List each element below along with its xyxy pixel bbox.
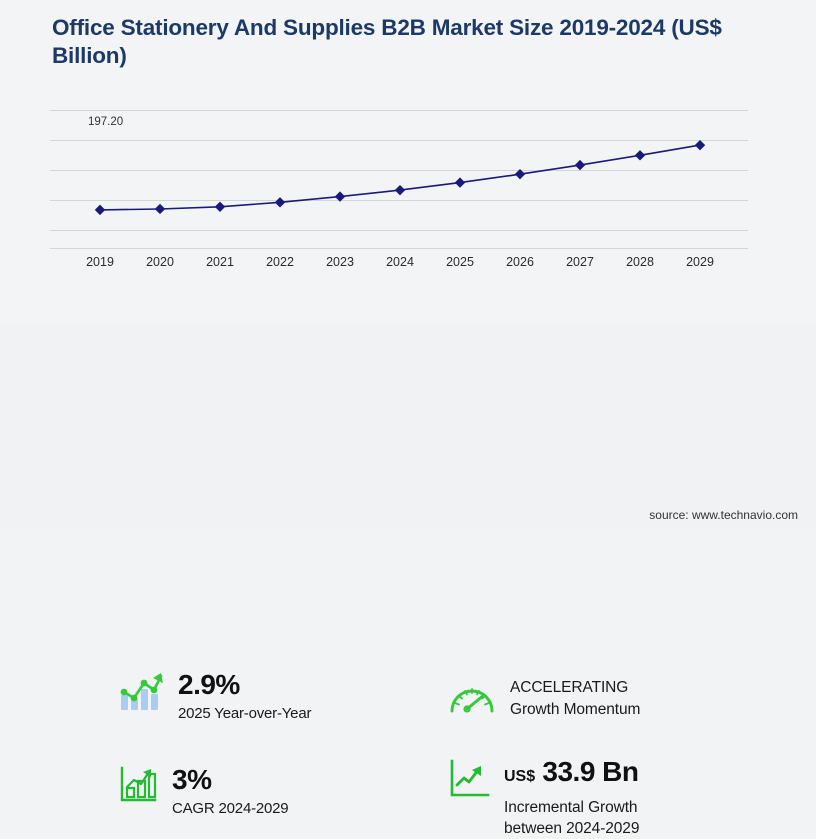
data-point-2027 xyxy=(575,160,585,170)
x-tick-2029: 2029 xyxy=(686,255,714,269)
data-label-2019: 197.20 xyxy=(88,116,123,128)
page-title: Office Stationery And Supplies B2B Marke… xyxy=(52,14,772,70)
cagr-bar-chart-icon xyxy=(118,765,158,810)
x-tick-2025: 2025 xyxy=(446,255,474,269)
series-line xyxy=(100,145,700,210)
speedometer-icon xyxy=(448,677,496,722)
stat-cagr-caption-lead: CAGR xyxy=(172,800,215,817)
source-label: source: www.technavio.com xyxy=(649,508,798,522)
x-tick-2026: 2026 xyxy=(506,255,534,269)
stats-panel: 2.9% 2025 Year-over-Year 3% CAGR 2024-20… xyxy=(0,325,816,528)
stat-incremental-unit: US$ xyxy=(504,768,535,785)
market-size-infographic: Office Stationery And Supplies B2B Marke… xyxy=(0,0,816,528)
x-tick-2027: 2027 xyxy=(566,255,594,269)
series-markers xyxy=(95,140,705,215)
chart-series xyxy=(50,105,748,250)
data-point-2025 xyxy=(455,177,465,187)
data-point-2029 xyxy=(695,140,705,150)
x-tick-2019: 2019 xyxy=(86,255,114,269)
x-tick-2028: 2028 xyxy=(626,255,654,269)
bar-line-growth-icon xyxy=(118,670,164,717)
x-axis: 2019 2020 2021 2022 2023 2024 2025 2026 … xyxy=(50,255,748,277)
stat-incremental-value: US$ 33.9 Bn xyxy=(504,757,798,792)
x-tick-2020: 2020 xyxy=(146,255,174,269)
stat-cagr: 3% CAGR 2024-2029 xyxy=(118,765,448,819)
stat-incremental-caption-line1: Incremental Growth xyxy=(504,797,798,818)
data-point-2019 xyxy=(95,205,105,215)
line-chart: 197.20 xyxy=(50,105,748,250)
x-tick-2022: 2022 xyxy=(266,255,294,269)
x-tick-2023: 2023 xyxy=(326,255,354,269)
stat-incremental-amount: 33.9 Bn xyxy=(542,756,638,787)
data-point-2020 xyxy=(155,204,165,214)
stat-momentum: ACCELERATING Growth Momentum xyxy=(448,677,788,722)
data-point-2022 xyxy=(275,197,285,207)
x-tick-2021: 2021 xyxy=(206,255,234,269)
stat-incremental-growth: US$ 33.9 Bn Incremental Growth between 2… xyxy=(448,757,798,839)
stat-cagr-caption: CAGR 2024-2029 xyxy=(172,799,448,819)
stat-momentum-line2: Growth Momentum xyxy=(510,699,788,720)
data-point-2028 xyxy=(635,150,645,160)
stat-cagr-caption-range: 2024-2029 xyxy=(219,800,289,817)
stat-yoy-value: 2.9% xyxy=(178,670,448,700)
data-point-2023 xyxy=(335,191,345,201)
data-point-2024 xyxy=(395,185,405,195)
data-point-2026 xyxy=(515,169,525,179)
stat-momentum-line1: ACCELERATING xyxy=(510,677,788,698)
trend-arrow-icon xyxy=(448,757,490,806)
x-tick-2024: 2024 xyxy=(386,255,414,269)
stat-cagr-value: 3% xyxy=(172,765,448,795)
stat-yoy: 2.9% 2025 Year-over-Year xyxy=(118,670,448,724)
stat-yoy-caption: 2025 Year-over-Year xyxy=(178,704,448,724)
chart-panel: Office Stationery And Supplies B2B Marke… xyxy=(0,0,816,325)
data-point-2021 xyxy=(215,202,225,212)
stat-incremental-caption-line2: between 2024-2029 xyxy=(504,818,798,839)
